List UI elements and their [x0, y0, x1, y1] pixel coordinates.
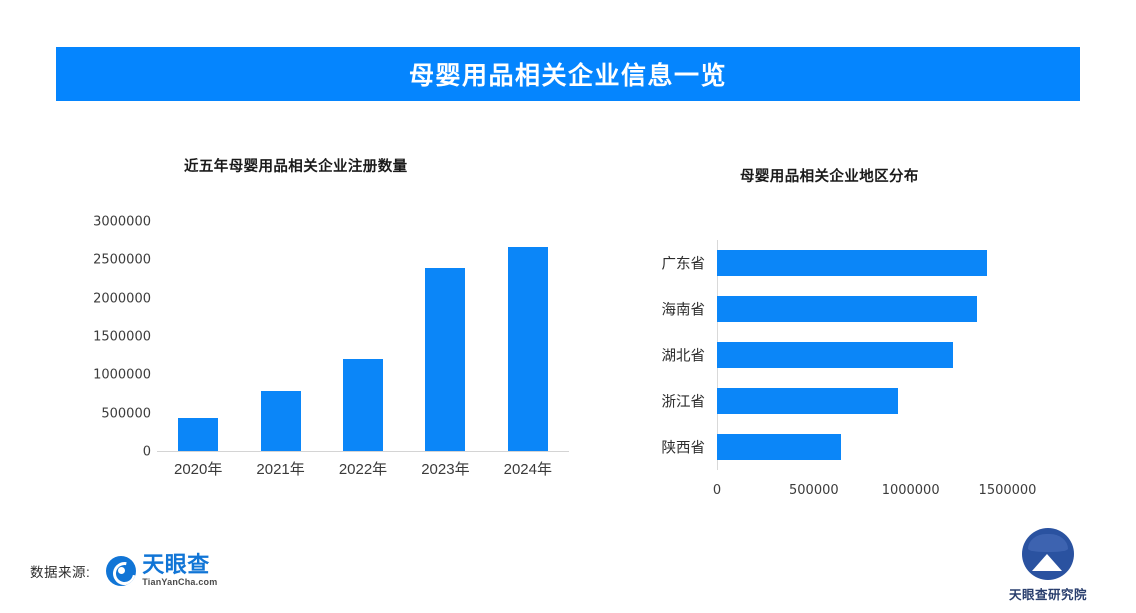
y-axis-category-label: 陕西省: [662, 437, 706, 458]
y-axis-tick-label: 3000000: [93, 215, 151, 230]
y-axis-category-label: 湖北省: [662, 345, 706, 366]
chart-panel-registrations: 近五年母婴用品相关企业注册数量 050000010000001500000200…: [60, 130, 580, 510]
horizontal-bar-chart: 050000010000001500000 广东省海南省湖北省浙江省陕西省: [717, 240, 1023, 470]
bar-slot: [322, 222, 404, 452]
tianyancha-logo: 天眼查 TianYanCha.com: [106, 554, 217, 587]
chart-panel-regions: 母婴用品相关企业地区分布 050000010000001500000 广东省海南…: [600, 130, 1080, 510]
y-axis-tick-label: 2500000: [93, 253, 151, 268]
header-banner: 母婴用品相关企业信息一览: [56, 47, 1080, 101]
bar-slot: 湖北省: [717, 332, 1023, 378]
x-axis-tick-label: 0: [713, 483, 721, 498]
institute-logo-icon: [1022, 528, 1074, 580]
plot-area-bars: [157, 222, 569, 452]
bar-2021年[interactable]: [261, 391, 301, 452]
data-source: 数据来源: 天眼查 TianYanCha.com: [30, 554, 217, 587]
x-axis-tick-label: 1500000: [979, 483, 1037, 498]
x-axis-category-label: 2020年: [174, 458, 222, 479]
bar-2022年[interactable]: [343, 359, 383, 452]
chart-title-registrations: 近五年母婴用品相关企业注册数量: [184, 155, 408, 176]
institute-name: 天眼查研究院: [1000, 584, 1096, 603]
y-axis-tick-label: 500000: [101, 406, 151, 421]
bar-slot: [487, 222, 569, 452]
chart-title-regions: 母婴用品相关企业地区分布: [740, 165, 919, 186]
x-axis-category-label: 2024年: [504, 458, 552, 479]
infographic-page: 母婴用品相关企业信息一览 近五年母婴用品相关企业注册数量 05000001000…: [0, 0, 1136, 613]
y-axis-category-label: 浙江省: [662, 391, 706, 412]
bar-slot: 陕西省: [717, 424, 1023, 470]
tianyancha-logo-en: TianYanCha.com: [142, 578, 217, 587]
bar-slot: [239, 222, 321, 452]
y-axis-tick-label: 1000000: [93, 368, 151, 383]
x-axis-line: [157, 451, 569, 452]
bar-slot: [404, 222, 486, 452]
bar-slot: 海南省: [717, 286, 1023, 332]
x-axis-category-labels: 2020年2021年2022年2023年2024年: [157, 458, 569, 484]
page-title: 母婴用品相关企业信息一览: [409, 56, 727, 92]
x-axis-tick-label: 1000000: [882, 483, 940, 498]
bar-slot: [157, 222, 239, 452]
bar-湖北省[interactable]: [717, 342, 953, 368]
bar-slot: 广东省: [717, 240, 1023, 286]
x-axis-category-label: 2021年: [256, 458, 304, 479]
x-axis-category-label: 2022年: [339, 458, 387, 479]
bar-广东省[interactable]: [717, 250, 987, 276]
tianyancha-logo-cn: 天眼查: [142, 554, 217, 576]
x-axis-category-label: 2023年: [421, 458, 469, 479]
data-source-label: 数据来源:: [30, 561, 90, 581]
y-axis-tick-label: 0: [143, 445, 151, 460]
bar-2024年[interactable]: [508, 247, 548, 452]
x-axis-tick-labels: 050000010000001500000: [717, 483, 1023, 507]
tianyancha-eye-icon: [106, 556, 136, 586]
y-axis-category-label: 广东省: [662, 253, 706, 274]
y-axis-tick-labels: 0500000100000015000002000000250000030000…: [79, 222, 151, 452]
y-axis-tick-label: 1500000: [93, 330, 151, 345]
x-axis-tick-label: 500000: [789, 483, 839, 498]
bar-海南省[interactable]: [717, 296, 977, 322]
y-axis-tick-label: 2000000: [93, 291, 151, 306]
bar-陕西省[interactable]: [717, 434, 841, 460]
institute-badge: 天眼查研究院: [1000, 528, 1096, 603]
vertical-bar-chart: 0500000100000015000002000000250000030000…: [157, 222, 569, 452]
bar-slot: 浙江省: [717, 378, 1023, 424]
bar-2023年[interactable]: [425, 268, 465, 452]
bar-浙江省[interactable]: [717, 388, 898, 414]
y-axis-category-label: 海南省: [662, 299, 706, 320]
bar-2020年[interactable]: [178, 418, 218, 452]
